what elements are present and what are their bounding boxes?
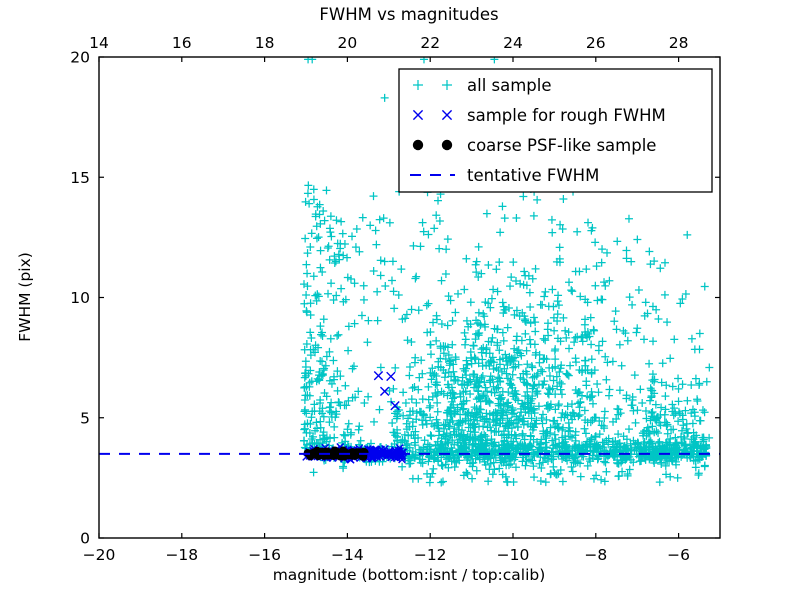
x-axis-label: magnitude (bottom:isnt / top:calib) [273,566,546,584]
y-tick-label: 0 [80,530,90,548]
x-tick-label: −12 [414,546,447,564]
x-tick-label-top: 20 [338,34,358,52]
legend-label: coarse PSF-like sample [467,136,656,155]
x-tick-label: −18 [165,546,198,564]
y-tick-label: 15 [70,169,90,187]
x-tick-label: −20 [83,546,116,564]
x-tick-label: −8 [584,546,607,564]
x-tick-label: −10 [497,546,530,564]
y-axis-label: FWHM (pix) [16,252,34,342]
x-tick-label-top: 18 [255,34,275,52]
x-tick-label-top: 28 [669,34,689,52]
x-tick-label-top: 24 [503,34,523,52]
x-tick-label: −6 [667,546,690,564]
y-tick-label: 20 [70,49,90,67]
legend-label: all sample [467,76,552,95]
x-tick-label-top: 16 [172,34,192,52]
x-tick-label-top: 14 [89,34,109,52]
y-tick-label: 10 [70,289,90,307]
legend-label: tentative FWHM [467,166,599,185]
x-tick-label: −14 [331,546,364,564]
legend-label: sample for rough FWHM [467,106,666,125]
x-tick-label-top: 26 [586,34,606,52]
figure-canvas: FWHM vs magnitudes −20−18−16−14−12−10−8−… [0,0,800,600]
chart-legend[interactable]: all samplesample for rough FWHMcoarse PS… [399,69,712,192]
x-tick-label-top: 22 [420,34,440,52]
y-tick-label: 5 [80,409,90,427]
chart-title: FWHM vs magnitudes [319,5,498,24]
scatter-plot: FWHM vs magnitudes −20−18−16−14−12−10−8−… [0,0,800,600]
x-tick-label: −16 [248,546,281,564]
